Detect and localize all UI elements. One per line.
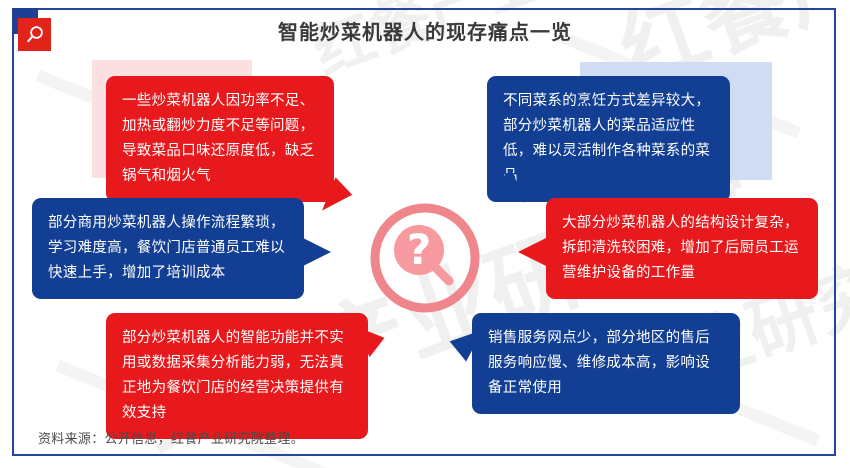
callout-smart-features[interactable]: 部分炒菜机器人的智能功能并不实用或数据采集分析能力弱，无法真正地为餐饮门店的经营… [106,313,368,439]
callout-text: 不同菜系的烹饪方式差异较大，部分炒菜机器人的菜品适应性低，难以灵活制作各种菜系的… [503,93,710,184]
callout-operation-complexity[interactable]: 部分商用炒菜机器人操作流程繁琐，学习难度高，餐饮门店普通员工难以快速上手，增加了… [32,198,304,299]
callout-text: 销售服务网点少，部分地区的售后服务响应慢、维修成本高，影响设备正常使用 [488,330,710,396]
center-question-emblem: ? [367,200,483,316]
page-title: 智能炒菜机器人的现存痛点一览 [0,16,850,45]
callout-text: 大部分炒菜机器人的结构设计复杂，拆卸清洗较困难，增加了后厨员工运营维护设备的工作… [562,215,799,281]
infographic-canvas: 红餐产业研究院 红餐产业研究院 产业研究院 红餐产业 智能炒菜机器人的现存痛点一… [0,0,850,468]
callout-text: 一些炒菜机器人因功率不足、加热或翻炒力度不足等问题，导致菜品口味还原度低，缺乏锅… [122,93,314,184]
callout-cuisine-adaptability[interactable]: 不同菜系的烹饪方式差异较大，部分炒菜机器人的菜品适应性低，难以灵活制作各种菜系的… [487,76,730,202]
callout-structure-cleaning[interactable]: 大部分炒菜机器人的结构设计复杂，拆卸清洗较困难，增加了后厨员工运营维护设备的工作… [546,198,818,299]
callout-after-sales[interactable]: 销售服务网点少，部分地区的售后服务响应慢、维修成本高，影响设备正常使用 [472,313,740,414]
source-footnote: 资料来源：公开信息，红餐产业研究院整理。 [38,428,304,447]
question-mark-glyph: ? [407,225,431,274]
callout-tail-structure-cleaning [518,238,546,266]
callout-power-heating[interactable]: 一些炒菜机器人因功率不足、加热或翻炒力度不足等问题，导致菜品口味还原度低，缺乏锅… [106,76,334,202]
callout-text: 部分炒菜机器人的智能功能并不实用或数据采集分析能力弱，无法真正地为餐饮门店的经营… [122,330,344,421]
callout-text: 部分商用炒菜机器人操作流程繁琐，学习难度高，餐饮门店普通员工难以快速上手，增加了… [48,215,285,281]
callout-tail-operation-complexity [303,238,331,266]
